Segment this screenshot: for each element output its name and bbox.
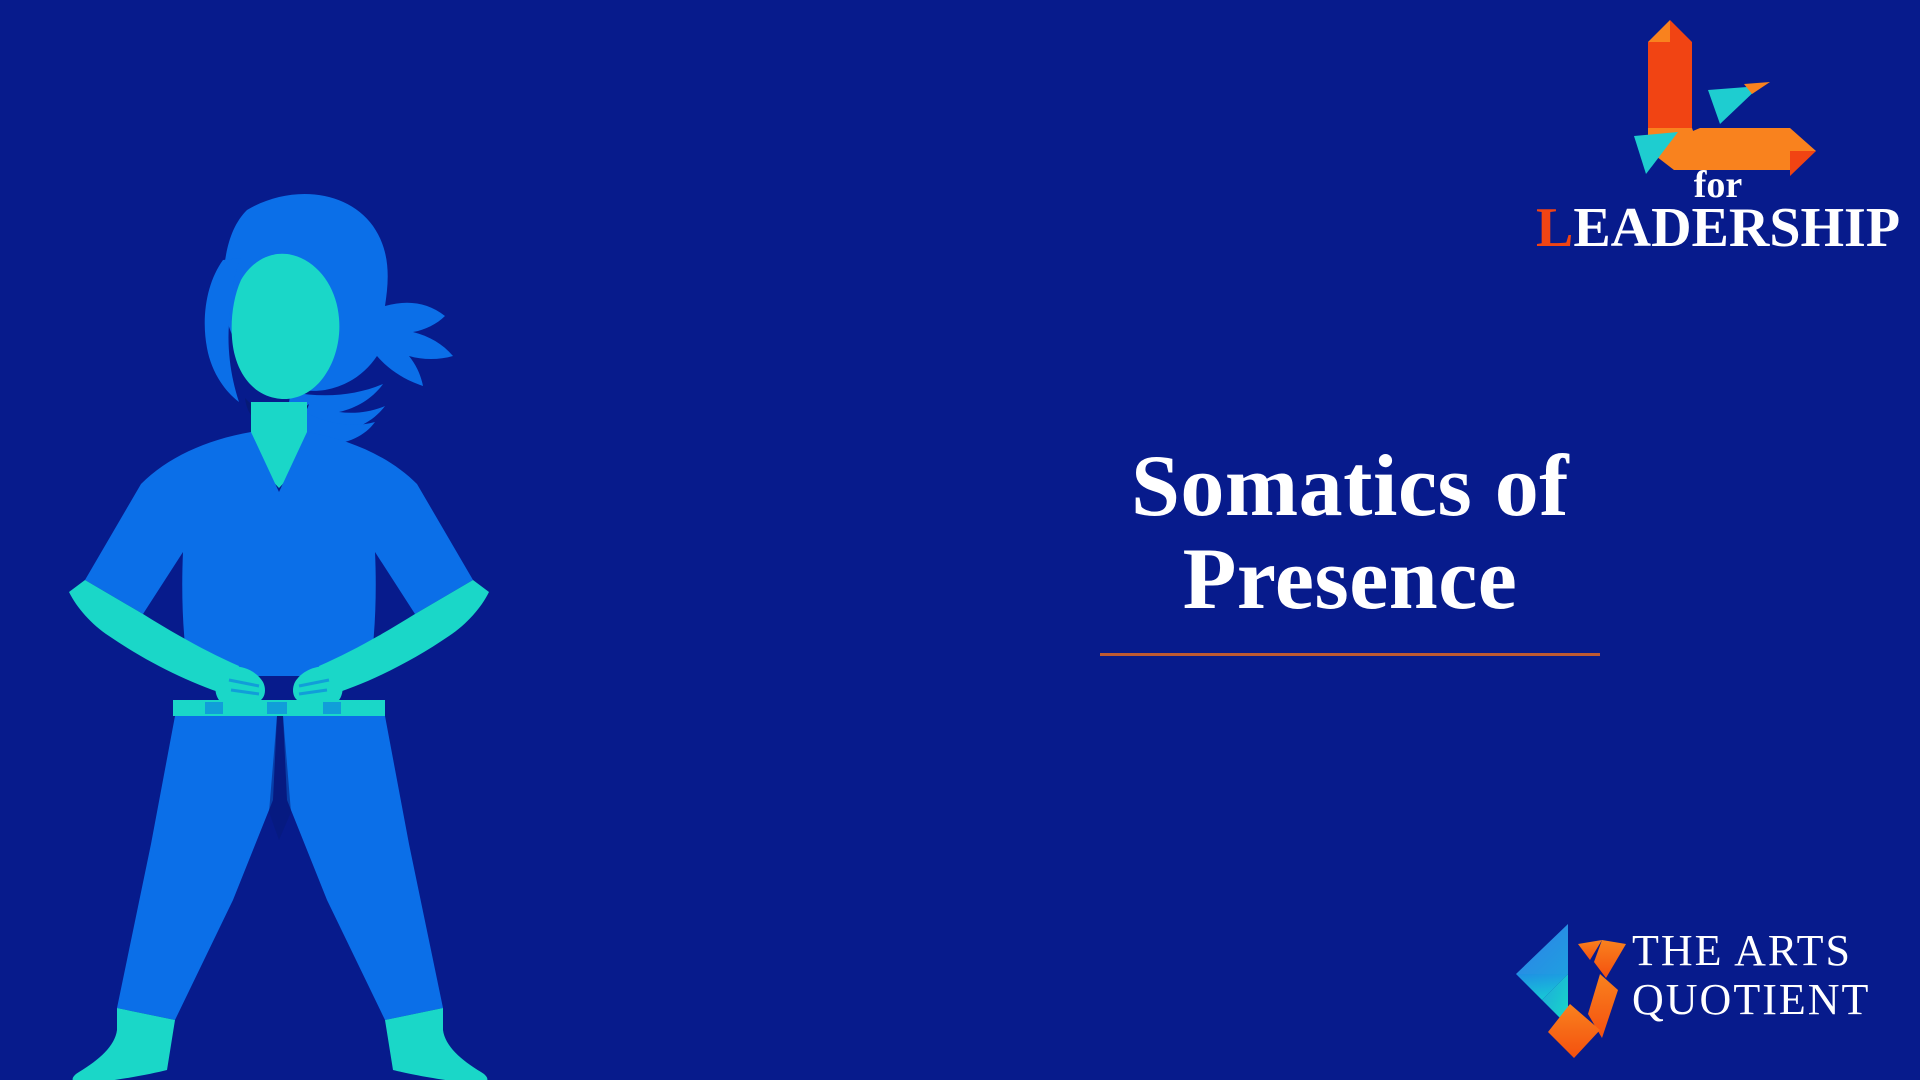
leadership-logo: for LEADERSHIP [1530,18,1906,268]
standing-woman-illustration [55,140,525,1080]
leadership-wordmark: LEADERSHIP [1530,200,1906,256]
title-underline-rule [1100,653,1600,656]
leadership-accent-letter: L [1536,197,1573,259]
arts-quotient-wordmark: THE ARTS QUOTIENT [1632,926,1912,1025]
arts-quotient-logo: THE ARTS QUOTIENT [1506,918,1906,1068]
slide-canvas: Somatics of Presence [0,0,1920,1080]
diamond-figure-mark-icon [1506,918,1638,1066]
arts-quotient-line-2: QUOTIENT [1632,975,1912,1024]
title-block: Somatics of Presence [1040,440,1660,656]
arts-quotient-line-1: THE ARTS [1632,926,1912,975]
boots-shape [73,1008,488,1080]
belt-shape [173,700,385,716]
leadership-word-rest: EADERSHIP [1573,197,1900,259]
legs-shape [117,716,443,1020]
page-title: Somatics of Presence [1040,440,1660,627]
